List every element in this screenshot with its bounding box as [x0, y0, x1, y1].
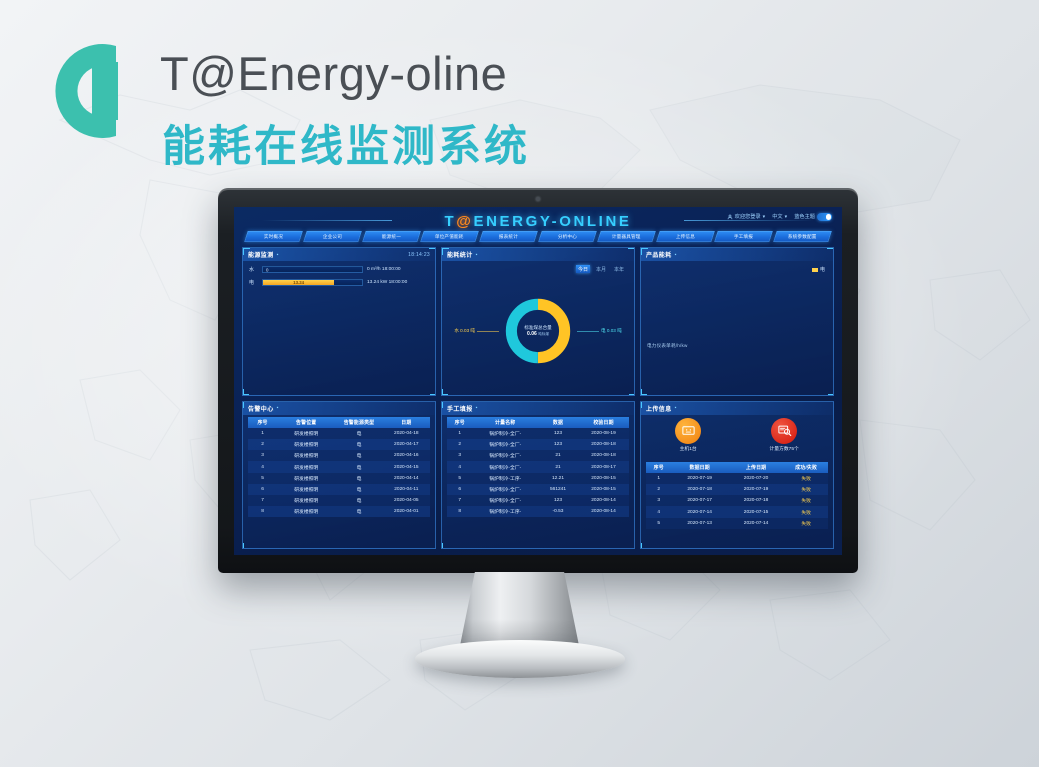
- table-cell: 电: [335, 473, 382, 484]
- table-cell: 6: [447, 484, 472, 495]
- table-cell: 2020-08-15: [578, 484, 629, 495]
- table-column-header: 序号: [646, 462, 671, 473]
- table-row[interactable]: 6研发楼照明电2020-04-11: [248, 484, 430, 495]
- table-cell: 锅炉制冷-全厂-: [472, 439, 538, 450]
- nav-label: 报表统计: [499, 234, 518, 240]
- table-cell: 锅炉制冷-全厂-: [472, 495, 538, 506]
- table-cell: 研发楼照明: [277, 450, 335, 461]
- nav-item-1[interactable]: 企业公司: [303, 231, 361, 242]
- table-row[interactable]: 6锅炉制冷-全厂-5612412020-08-15: [447, 484, 629, 495]
- more-dot-icon[interactable]: ▪: [277, 405, 279, 411]
- table-cell: 2020-07-19: [728, 484, 784, 495]
- manual-entry-table: 序号计量名称数据校验日期 1锅炉制冷-全厂-1232020-08-192锅炉制冷…: [447, 417, 629, 518]
- table-cell: 2020-07-15: [728, 506, 784, 517]
- table-cell: 2020-04-11: [383, 484, 430, 495]
- panel-header: 产品能耗 ▪: [641, 248, 833, 261]
- table-column-header: 上传日期: [728, 462, 784, 473]
- panel-header: 手工填报 ▪: [442, 402, 634, 415]
- table-cell: 研发楼照明: [277, 506, 335, 517]
- table-cell: 1: [646, 473, 671, 484]
- table-row[interactable]: 32020-07-172020-07-18失败: [646, 495, 828, 506]
- logo-suffix: ENERGY-ONLINE: [474, 213, 632, 230]
- table-cell: 失败: [784, 506, 828, 517]
- table-cell: 失败: [784, 495, 828, 506]
- table-header-row: 序号告警位置告警能源类型日期: [248, 417, 430, 428]
- table-cell: 561241: [538, 484, 578, 495]
- manual-table-wrap[interactable]: 序号计量名称数据校验日期 1锅炉制冷-全厂-1232020-08-192锅炉制冷…: [447, 417, 629, 548]
- donut-label-right: 电 0.03 吨: [577, 328, 622, 334]
- webcam-icon: [536, 197, 540, 201]
- logo-prefix: T: [445, 213, 457, 230]
- table-row[interactable]: 5锅炉制冷-工序-12.212020-08-15: [447, 473, 629, 484]
- upload-stat-label: 主机1台: [680, 445, 697, 452]
- more-dot-icon[interactable]: ▪: [675, 252, 677, 258]
- table-cell: 3: [447, 450, 472, 461]
- energy-bar-value: 13.24: [293, 280, 304, 285]
- leader-line: [577, 331, 599, 332]
- table-cell: 研发楼照明: [277, 473, 335, 484]
- table-cell: 2020-04-18: [383, 428, 430, 439]
- table-cell: 12.21: [538, 473, 578, 484]
- panel-manual-entry: 手工填报 ▪ 序号计量名称数据校验日期 1锅炉制冷-全厂-1232020-08-…: [441, 401, 635, 550]
- table-column-header: 告警位置: [277, 417, 335, 428]
- table-row[interactable]: 52020-07-132020-07-14失败: [646, 518, 828, 529]
- table-row[interactable]: 2研发楼照明电2020-04-17: [248, 439, 430, 450]
- table-cell: 4: [447, 461, 472, 472]
- table-body: 1锅炉制冷-全厂-1232020-08-192锅炉制冷-全厂-1232020-0…: [447, 428, 629, 518]
- donut-chart: 标准煤总合量 0.06 吨标煤 水 0.03 吨 电 0.03 吨: [501, 294, 575, 368]
- panel-energy-stats: 能耗统计 ▪ 今日 本月 本年 标准煤总合量: [441, 247, 635, 396]
- panel-header: 能耗统计 ▪: [442, 248, 634, 261]
- legend-swatch: [812, 268, 818, 272]
- donut-chart-wrap: 标准煤总合量 0.06 吨标煤 水 0.03 吨 电 0.03 吨: [442, 272, 634, 391]
- table-cell: 3: [248, 450, 277, 461]
- theme-label: 蓝色主题: [794, 213, 815, 220]
- y-axis-label: 电力仪表单耗/h/kw: [647, 343, 688, 349]
- nav-label: 企业公司: [323, 234, 342, 240]
- panel-header: 告警中心 ▪: [243, 402, 435, 415]
- nav-label: 上传信息: [675, 234, 694, 240]
- table-cell: 1: [248, 428, 277, 439]
- table-cell: 失败: [784, 484, 828, 495]
- table-cell: 电: [335, 450, 382, 461]
- table-cell: 2020-08-15: [578, 473, 629, 484]
- alarm-table: 序号告警位置告警能源类型日期 1研发楼照明电2020-04-182研发楼照明电2…: [248, 417, 430, 518]
- nav-item-7[interactable]: 上传信息: [656, 231, 714, 242]
- energy-row-label: 电: [249, 279, 258, 286]
- alarm-table-wrap[interactable]: 序号告警位置告警能源类型日期 1研发楼照明电2020-04-182研发楼照明电2…: [248, 417, 430, 548]
- nav-label: 手工填报: [734, 234, 753, 240]
- table-cell: 锅炉制冷-工序-: [472, 506, 538, 517]
- table-cell: 电: [335, 495, 382, 506]
- energy-row-meta: 0 m³/h 18:00:00: [367, 267, 429, 272]
- nav-item-8[interactable]: 手工填报: [715, 231, 773, 242]
- table-column-header: 告警能源类型: [335, 417, 382, 428]
- donut-center-value: 0.06: [527, 331, 537, 337]
- logo-at-icon: @: [456, 213, 473, 230]
- main-nav: 实时概况 企业公司 能源统一 单位产值能耗 报表统计 分析中心 计量器具管理 上…: [246, 231, 830, 242]
- table-column-header: 计量名称: [472, 417, 538, 428]
- panel-energy-monitor: 能源监测 ▪ 18:14:23 水 0 0 m³/h 18:00:00 电: [242, 247, 436, 396]
- table-row[interactable]: 8锅炉制冷-工序--0.532020-08-14: [447, 506, 629, 517]
- table-cell: 8: [447, 506, 472, 517]
- table-cell: 电: [335, 461, 382, 472]
- theme-toggle[interactable]: [817, 213, 832, 221]
- table-cell: 2: [646, 484, 671, 495]
- chevron-down-icon: ▾: [763, 214, 766, 220]
- table-body: 1研发楼照明电2020-04-182研发楼照明电2020-04-173研发楼照明…: [248, 428, 430, 518]
- table-cell: 1: [447, 428, 472, 439]
- table-cell: 2020-04-17: [383, 439, 430, 450]
- table-row[interactable]: 4锅炉制冷-全厂-212020-08-17: [447, 461, 629, 472]
- table-cell: 123: [538, 428, 578, 439]
- table-cell: 失败: [784, 518, 828, 529]
- table-column-header: 校验日期: [578, 417, 629, 428]
- upload-table: 序号数据日期上传日期成功/失败 12020-07-192020-07-20失败2…: [646, 462, 828, 529]
- donut-label-left-text: 水 0.03 吨: [454, 328, 475, 334]
- table-row[interactable]: 7研发楼照明电2020-04-05: [248, 495, 430, 506]
- dashboard-grid: 能源监测 ▪ 18:14:23 水 0 0 m³/h 18:00:00 电: [242, 247, 834, 549]
- table-cell: 电: [335, 506, 382, 517]
- table-row[interactable]: 3研发楼照明电2020-04-16: [248, 450, 430, 461]
- panel-product-energy: 产品能耗 ▪ 电 电力仪表单耗/h/kw: [640, 247, 834, 396]
- nav-label: 分析中心: [558, 234, 577, 240]
- table-cell: 123: [538, 439, 578, 450]
- table-cell: 8: [248, 506, 277, 517]
- table-cell: 2020-08-14: [578, 506, 629, 517]
- table-cell: 7: [447, 495, 472, 506]
- table-cell: -0.53: [538, 506, 578, 517]
- upload-stats: 主机1台 计量方数75个: [641, 418, 833, 460]
- table-cell: 2020-07-18: [728, 495, 784, 506]
- nav-item-2[interactable]: 能源统一: [362, 231, 420, 242]
- table-cell: 4: [646, 506, 671, 517]
- table-row[interactable]: 1研发楼照明电2020-04-18: [248, 428, 430, 439]
- table-cell: 2020-07-20: [728, 473, 784, 484]
- table-row[interactable]: 22020-07-182020-07-19失败: [646, 484, 828, 495]
- table-cell: 研发楼照明: [277, 495, 335, 506]
- c-logo-icon: [52, 32, 126, 150]
- panel-title: 能源监测: [248, 250, 274, 259]
- nav-item-4[interactable]: 报表统计: [479, 231, 537, 242]
- table-cell: 电: [335, 484, 382, 495]
- nav-label: 能源统一: [381, 234, 400, 240]
- nav-item-5[interactable]: 分析中心: [538, 231, 596, 242]
- nav-item-9[interactable]: 系统参数配置: [773, 231, 831, 242]
- donut-label-right-text: 电 0.03 吨: [601, 328, 622, 334]
- table-cell: 失败: [784, 473, 828, 484]
- header-user-area: 欢迎您登录 ▾ 中文 ▾ 蓝色主题: [727, 213, 832, 221]
- table-row[interactable]: 42020-07-142020-07-15失败: [646, 506, 828, 517]
- panel-title: 手工填报: [447, 404, 473, 413]
- table-cell: 21: [538, 450, 578, 461]
- table-row[interactable]: 1锅炉制冷-全厂-1232020-08-19: [447, 428, 629, 439]
- legend-label: 电: [820, 266, 825, 273]
- table-cell: 锅炉制冷-工序-: [472, 473, 538, 484]
- energy-bar-value: 0: [266, 267, 268, 272]
- dashboard-screen: T@ENERGY-ONLINE 欢迎您登录 ▾ 中文 ▾ 蓝色主题 实时: [234, 207, 842, 555]
- energy-bar-track: 0: [262, 266, 363, 273]
- more-dot-icon[interactable]: ▪: [476, 252, 478, 258]
- panel-title: 能耗统计: [447, 250, 473, 259]
- table-column-header: 序号: [447, 417, 472, 428]
- nav-item-0[interactable]: 实时概况: [244, 231, 302, 242]
- language-menu[interactable]: 中文 ▾: [772, 213, 787, 220]
- nav-label: 系统参数配置: [788, 234, 817, 240]
- upload-table-wrap[interactable]: 序号数据日期上传日期成功/失败 12020-07-192020-07-20失败2…: [646, 462, 828, 548]
- table-row[interactable]: 4研发楼照明电2020-04-15: [248, 461, 430, 472]
- table-cell: 5: [447, 473, 472, 484]
- server-host-icon: [675, 418, 701, 444]
- table-cell: 2020-08-17: [578, 461, 629, 472]
- table-cell: 电: [335, 428, 382, 439]
- more-dot-icon[interactable]: ▪: [675, 405, 677, 411]
- donut-label-left: 水 0.03 吨: [454, 328, 499, 334]
- table-cell: 2020-08-14: [578, 495, 629, 506]
- table-cell: 研发楼照明: [277, 461, 335, 472]
- table-cell: 研发楼照明: [277, 439, 335, 450]
- energy-bar-fill: 13.24: [263, 280, 334, 285]
- upload-stat-host[interactable]: 主机1台: [675, 418, 701, 453]
- table-cell: 锅炉制冷-全厂-: [472, 461, 538, 472]
- banner-title-en: T@Energy-oline: [160, 46, 507, 101]
- meter-search-icon: [771, 418, 797, 444]
- theme-switch[interactable]: 蓝色主题: [794, 213, 832, 221]
- language-label: 中文: [772, 213, 782, 220]
- more-dot-icon[interactable]: ▪: [277, 252, 279, 258]
- nav-label: 单位产值能耗: [435, 234, 464, 240]
- table-cell: 电: [335, 439, 382, 450]
- table-cell: 2020-07-14: [728, 518, 784, 529]
- table-cell: 2020-08-18: [578, 450, 629, 461]
- user-icon: [727, 214, 733, 220]
- banner-title-cn: 能耗在线监测系统: [162, 112, 530, 174]
- table-cell: 5: [646, 518, 671, 529]
- nav-item-3[interactable]: 单位产值能耗: [421, 231, 479, 242]
- panel-header: 能源监测 ▪ 18:14:23: [243, 248, 435, 261]
- table-row[interactable]: 3锅炉制冷-全厂-212020-08-18: [447, 450, 629, 461]
- donut-center-unit: 吨标煤: [538, 332, 549, 336]
- panel-upload-info: 上传信息 ▪ 主机1台: [640, 401, 834, 550]
- table-cell: 研发楼照明: [277, 484, 335, 495]
- panel-title: 上传信息: [646, 404, 672, 413]
- energy-row-electric: 电 13.24 13.24 kW 18:00:00: [249, 279, 429, 286]
- panel-alarm-center: 告警中心 ▪ 序号告警位置告警能源类型日期 1研发楼照明电2020-04-182…: [242, 401, 436, 550]
- table-row[interactable]: 7锅炉制冷-全厂-1232020-08-14: [447, 495, 629, 506]
- panel-header: 上传信息 ▪: [641, 402, 833, 415]
- table-cell: 2020-07-14: [671, 506, 727, 517]
- account-label: 欢迎您登录: [735, 213, 761, 220]
- table-cell: 123: [538, 495, 578, 506]
- table-row[interactable]: 5研发楼照明电2020-04-14: [248, 473, 430, 484]
- table-cell: 锅炉制冷-全厂-: [472, 450, 538, 461]
- banner: T@Energy-oline 能耗在线监测系统: [52, 24, 672, 159]
- table-cell: 2020-04-16: [383, 450, 430, 461]
- energy-rows: 水 0 0 m³/h 18:00:00 电 13.24: [243, 261, 435, 286]
- monitor-stand-base: [415, 640, 625, 678]
- energy-bar-track: 13.24: [262, 279, 363, 286]
- table-header-row: 序号计量名称数据校验日期: [447, 417, 629, 428]
- table-cell: 2020-08-18: [578, 439, 629, 450]
- leader-line: [477, 331, 499, 332]
- more-dot-icon[interactable]: ▪: [476, 405, 478, 411]
- nav-label: 实时概况: [264, 234, 283, 240]
- energy-row-meta: 13.24 kW 18:00:00: [367, 280, 429, 285]
- table-cell: 4: [248, 461, 277, 472]
- table-row[interactable]: 8研发楼照明电2020-04-01: [248, 506, 430, 517]
- table-row[interactable]: 12020-07-192020-07-20失败: [646, 473, 828, 484]
- upload-stat-label: 计量方数75个: [769, 445, 798, 452]
- table-cell: 5: [248, 473, 277, 484]
- table-cell: 2020-07-17: [671, 495, 727, 506]
- donut-center-label: 标准煤总合量 0.06 吨标煤: [501, 294, 575, 368]
- table-cell: 2020-08-19: [578, 428, 629, 439]
- table-cell: 2020-07-18: [671, 484, 727, 495]
- table-column-header: 数据日期: [671, 462, 727, 473]
- table-cell: 研发楼照明: [277, 428, 335, 439]
- table-column-header: 成功/失败: [784, 462, 828, 473]
- table-cell: 2: [248, 439, 277, 450]
- table-cell: 2: [447, 439, 472, 450]
- table-cell: 锅炉制冷-全厂-: [472, 484, 538, 495]
- table-column-header: 序号: [248, 417, 277, 428]
- table-cell: 2020-04-01: [383, 506, 430, 517]
- table-cell: 7: [248, 495, 277, 506]
- table-row[interactable]: 2锅炉制冷-全厂-1232020-08-18: [447, 439, 629, 450]
- account-menu[interactable]: 欢迎您登录 ▾: [727, 213, 766, 220]
- energy-row-label: 水: [249, 266, 258, 273]
- table-cell: 2020-07-19: [671, 473, 727, 484]
- panel-title: 告警中心: [248, 404, 274, 413]
- clock-label: 18:14:23: [408, 252, 430, 258]
- chevron-down-icon: ▾: [785, 214, 788, 220]
- panel-title: 产品能耗: [646, 250, 672, 259]
- nav-item-6[interactable]: 计量器具管理: [597, 231, 655, 242]
- table-cell: 2020-07-13: [671, 518, 727, 529]
- table-header-row: 序号数据日期上传日期成功/失败: [646, 462, 828, 473]
- upload-stat-meters[interactable]: 计量方数75个: [769, 418, 798, 453]
- table-cell: 2020-04-15: [383, 461, 430, 472]
- chart-legend: 电: [812, 266, 825, 273]
- table-body: 12020-07-192020-07-20失败22020-07-182020-0…: [646, 473, 828, 529]
- table-column-header: 数据: [538, 417, 578, 428]
- monitor: T@ENERGY-ONLINE 欢迎您登录 ▾ 中文 ▾ 蓝色主题 实时: [218, 188, 858, 573]
- table-cell: 21: [538, 461, 578, 472]
- table-cell: 3: [646, 495, 671, 506]
- table-cell: 2020-04-14: [383, 473, 430, 484]
- table-cell: 6: [248, 484, 277, 495]
- nav-label: 计量器具管理: [612, 234, 641, 240]
- energy-row-water: 水 0 0 m³/h 18:00:00: [249, 266, 429, 273]
- table-cell: 锅炉制冷-全厂-: [472, 428, 538, 439]
- table-cell: 2020-04-05: [383, 495, 430, 506]
- table-column-header: 日期: [383, 417, 430, 428]
